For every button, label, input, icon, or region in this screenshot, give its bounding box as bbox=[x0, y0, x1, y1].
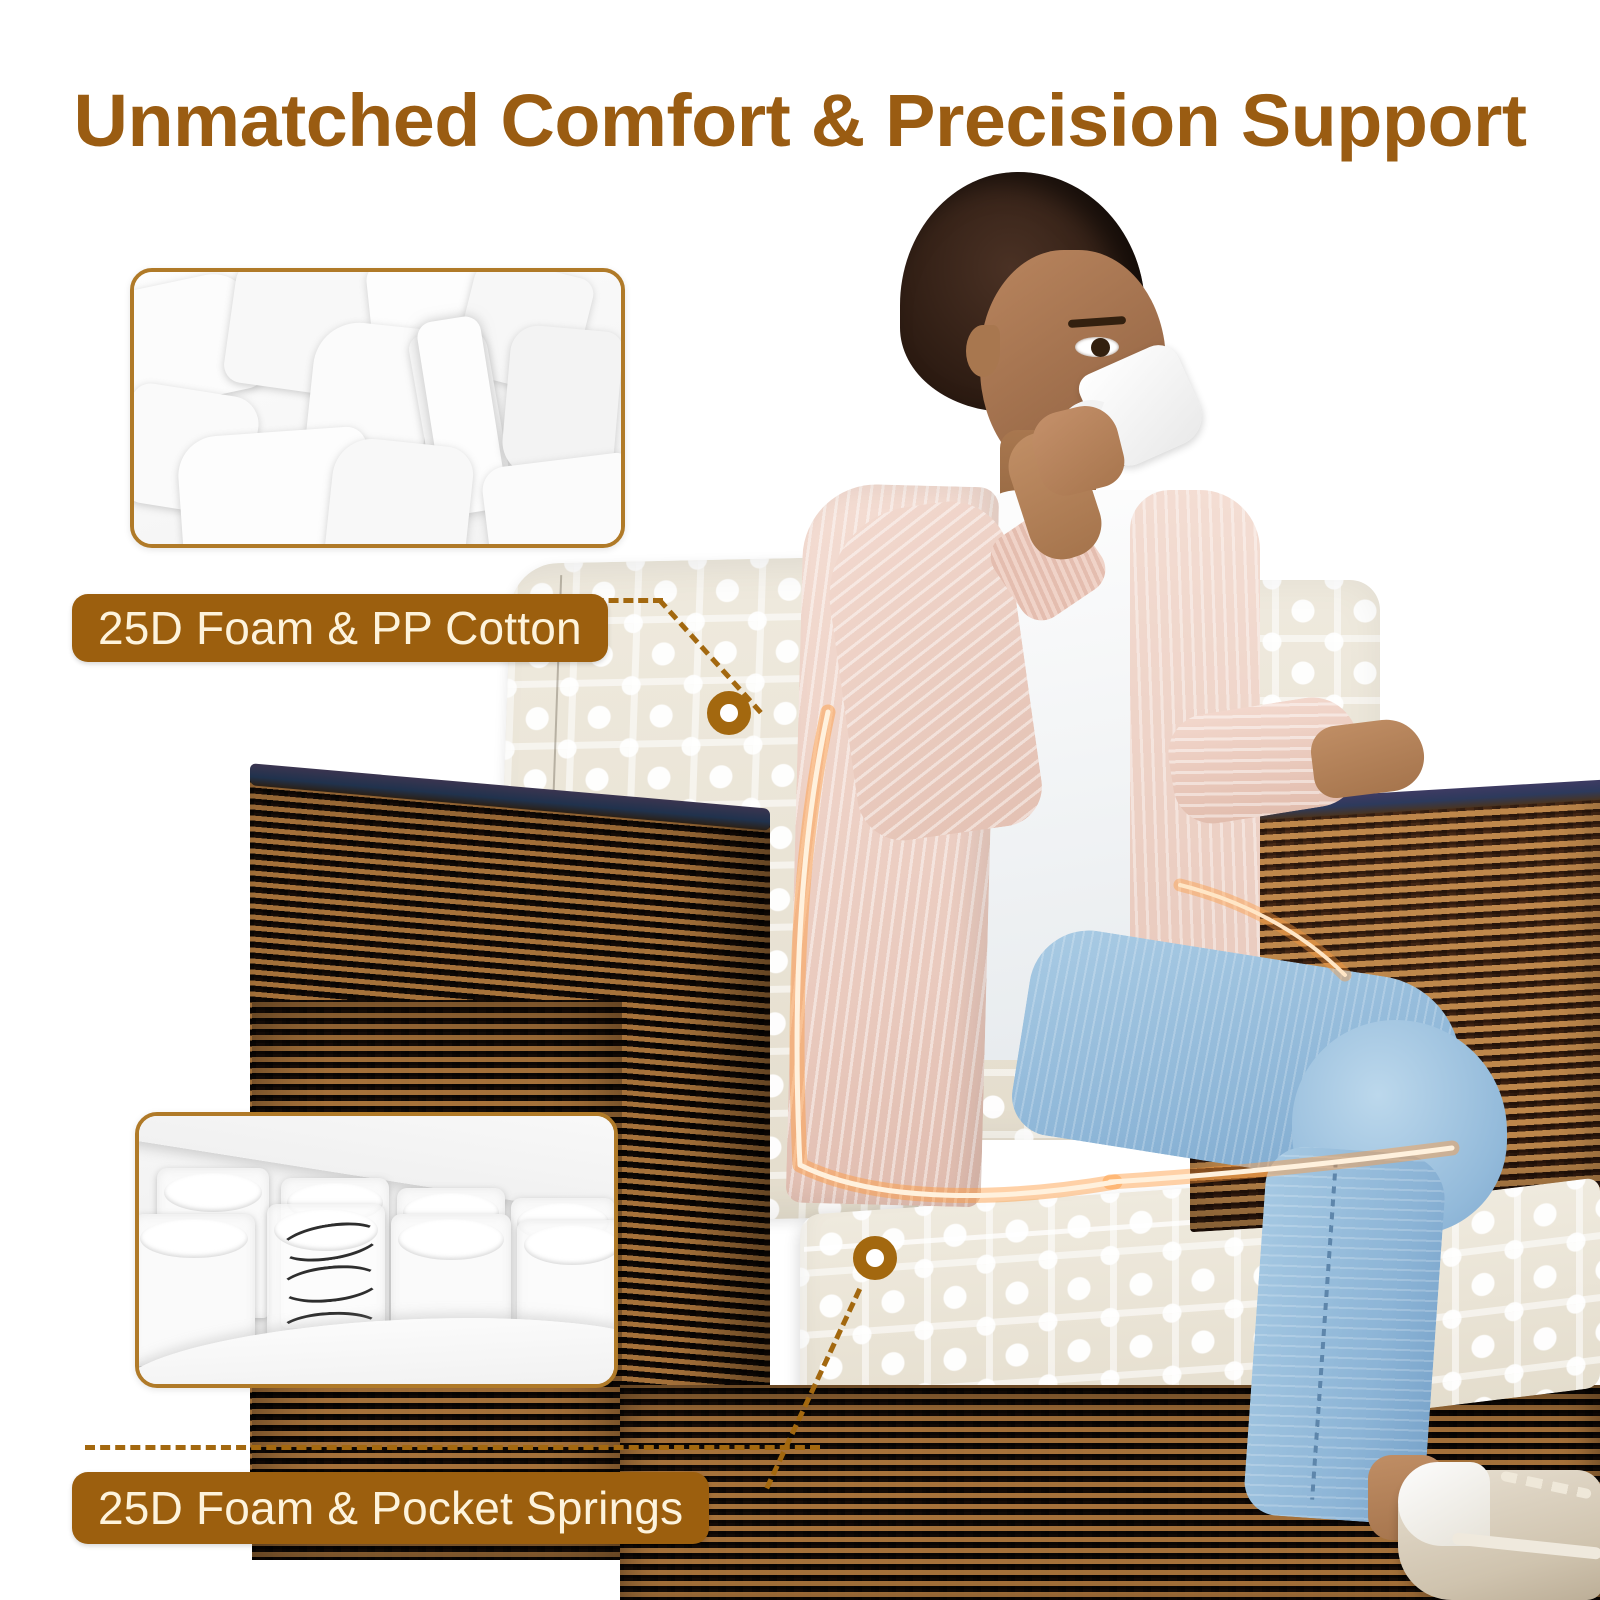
callout-chip-lower[interactable]: 25D Foam & Pocket Springs bbox=[72, 1472, 709, 1544]
pocket-springs-photo bbox=[135, 1112, 618, 1388]
callout-chip-upper-label: 25D Foam & PP Cotton bbox=[98, 601, 582, 655]
callout-marker-seat-cushion[interactable] bbox=[853, 1236, 897, 1280]
callout-chip-upper[interactable]: 25D Foam & PP Cotton bbox=[72, 594, 608, 662]
product-feature-image: Unmatched Comfort & Precision Support bbox=[0, 0, 1600, 1600]
shredded-foam-photo bbox=[130, 268, 625, 548]
callout-marker-back-cushion[interactable] bbox=[707, 691, 751, 735]
callout-dash-lower-horizontal bbox=[85, 1445, 820, 1450]
model-hand-right bbox=[1308, 715, 1428, 800]
model-ear bbox=[966, 325, 1000, 377]
callout-chip-lower-label: 25D Foam & Pocket Springs bbox=[98, 1481, 683, 1535]
sneaker-toe-cap bbox=[1398, 1462, 1490, 1546]
springs-photo-content bbox=[139, 1116, 614, 1384]
model-pupil bbox=[1091, 338, 1110, 357]
foam-photo-content bbox=[134, 272, 621, 544]
